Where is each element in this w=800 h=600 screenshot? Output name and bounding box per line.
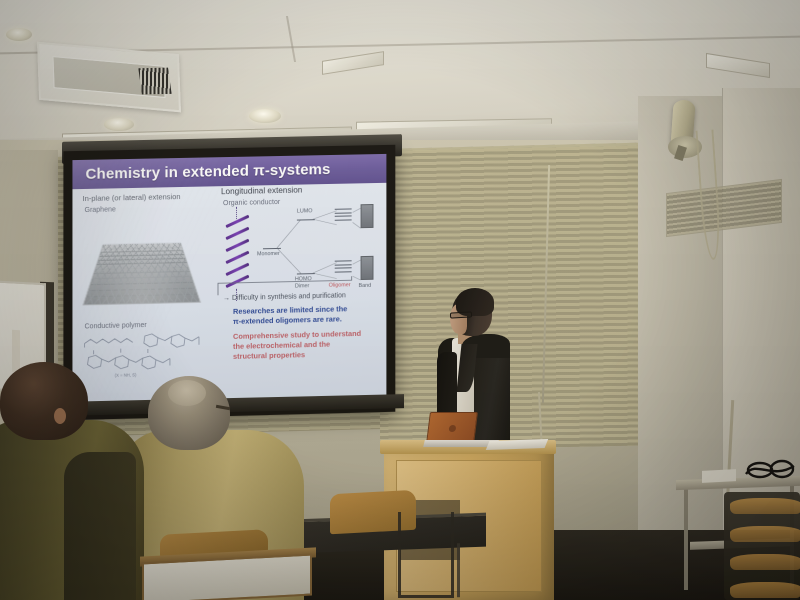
oligomer-homo-levels — [335, 260, 352, 275]
red-statement: Comprehensive study to understand the el… — [233, 328, 382, 362]
polymer-structure-note: (X = NH, S) — [115, 372, 137, 378]
slide-right-column: Longitudinal extension Organic conductor — [221, 184, 380, 210]
slide-title: Chemistry in extended π-systems — [72, 161, 330, 183]
chair-seat — [730, 498, 800, 514]
paper-on-side-table — [702, 469, 736, 483]
chair-seat — [730, 554, 800, 570]
polymer-structures: (X = NH, S) — [83, 331, 209, 378]
window-blinds — [380, 145, 660, 451]
conductive-polymer-label: Conductive polymer — [85, 320, 213, 330]
cables-icon — [742, 458, 800, 484]
graphene-label: Graphene — [85, 204, 213, 214]
monomer-label: Monomer — [257, 251, 280, 257]
laptop-logo-icon — [449, 425, 457, 432]
lecture-room-scene: Chemistry in extended π-systems In-plane… — [0, 0, 800, 600]
difficulty-note: → Difficulty in synthesis and purificati… — [223, 292, 346, 302]
polymer-structure-svg — [83, 331, 209, 378]
ac-vent-grille — [138, 68, 171, 95]
oligomer-lumo-levels — [335, 208, 352, 223]
desk-front-row — [142, 554, 312, 600]
right-column-heading: Longitudinal extension — [221, 184, 380, 196]
stack-dots — [236, 207, 237, 219]
left-column-heading: In-plane (or lateral) extension — [83, 191, 213, 203]
audience-member-shoulder — [64, 452, 136, 600]
graphene-lattice-image — [83, 243, 201, 306]
chair-frame — [398, 512, 454, 598]
table-leg — [684, 486, 688, 590]
whiteboard-marker-tray — [12, 330, 20, 373]
slide-left-column: In-plane (or lateral) extension Graphene… — [83, 191, 213, 377]
downlight-icon — [6, 28, 32, 41]
stacked-chairs — [724, 492, 800, 600]
eyeglasses-icon — [450, 311, 472, 318]
band-box-upper — [361, 204, 374, 228]
audience-member-hair — [168, 380, 206, 406]
audience-member-ear — [54, 408, 66, 424]
projection-screen[interactable]: Chemistry in extended π-systems In-plane… — [63, 145, 395, 421]
conductive-polymer-block: Conductive polymer — [83, 320, 213, 377]
audience-member-head — [0, 362, 88, 440]
presentation-slide: Chemistry in extended π-systems In-plane… — [72, 154, 386, 409]
downlight-icon — [249, 109, 281, 123]
chair-seat — [730, 526, 800, 542]
blue-statement: Researches are limited since the π-exten… — [233, 303, 380, 326]
lumo-label: LUMO — [297, 208, 313, 214]
downlight-icon — [104, 118, 134, 131]
blue-line-2: π-extended oligomers are rare. — [233, 313, 380, 326]
chair-seat — [730, 582, 800, 598]
